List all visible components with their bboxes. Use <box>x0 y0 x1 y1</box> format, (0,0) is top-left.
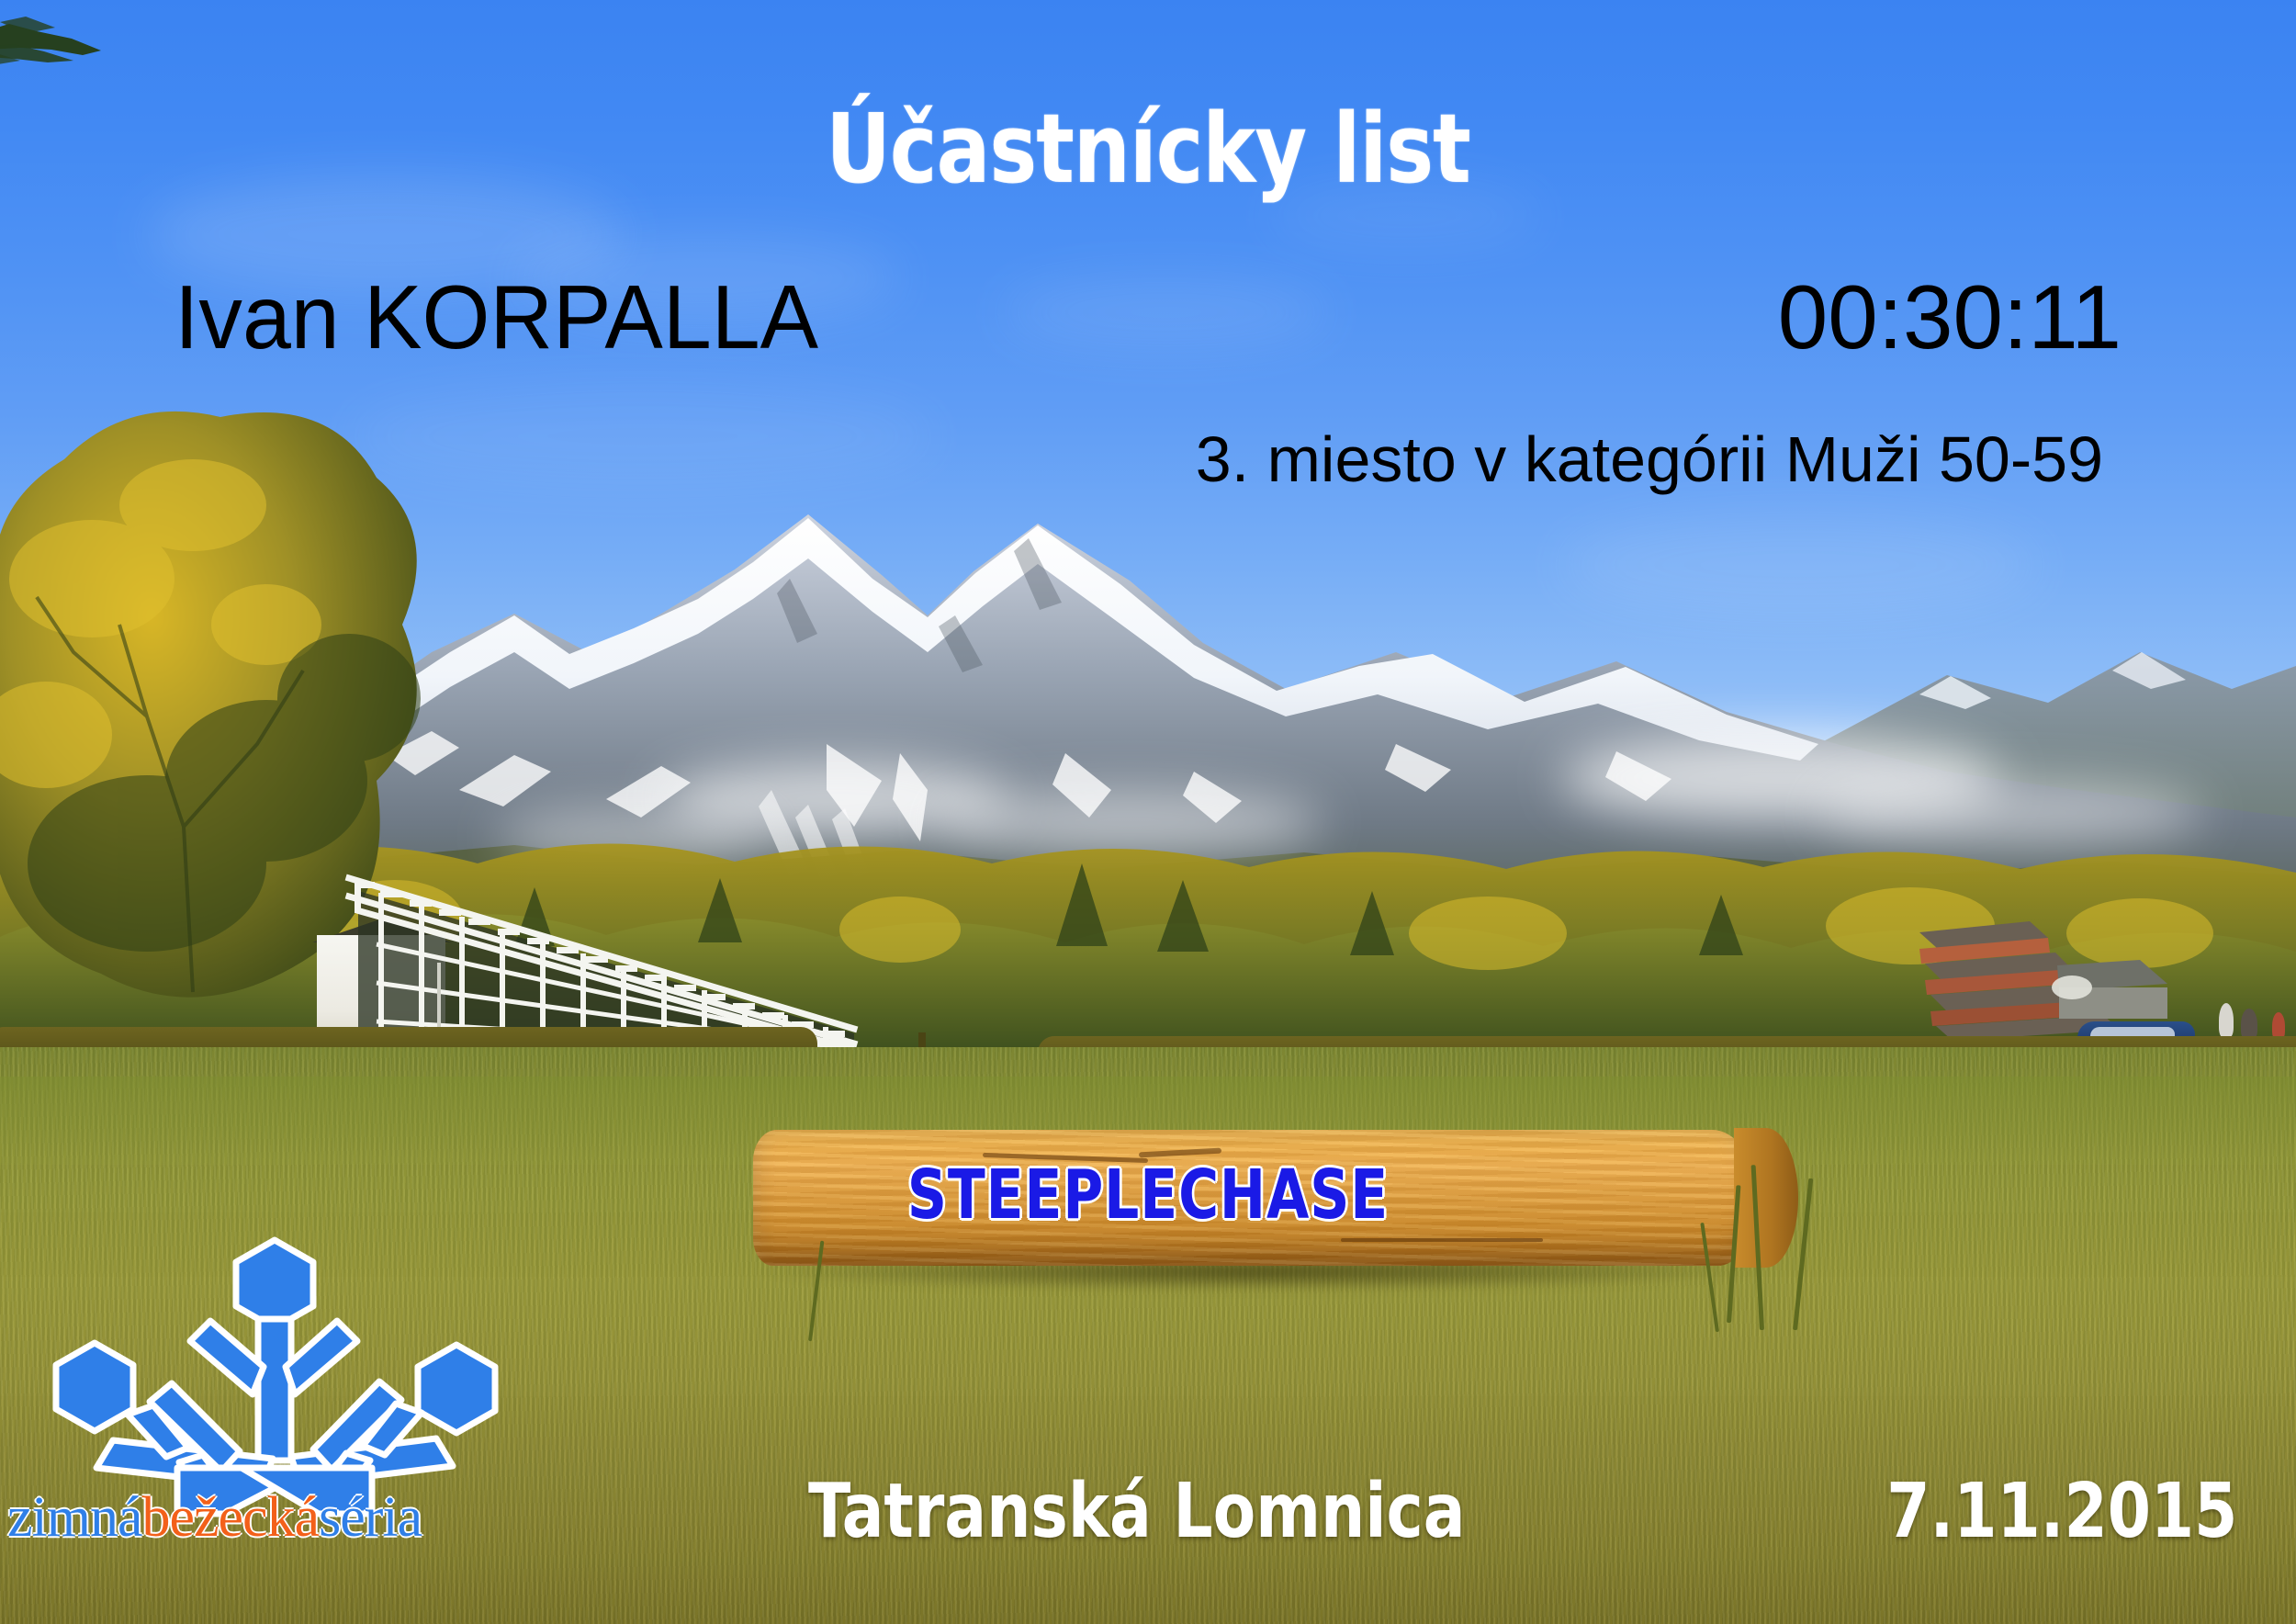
result-row: Ivan KORPALLA 00:30:11 <box>174 272 2122 362</box>
spectator <box>2241 1009 2257 1040</box>
spectator <box>2219 1003 2234 1038</box>
logo-text-bezecka: bežecká <box>142 1486 320 1549</box>
certificate-canvas: Účastnícky list Ivan KORPALLA 00:30:11 3… <box>0 0 2296 1624</box>
logo-text-zimna: zimná <box>7 1486 142 1549</box>
event-venue: Tatranská Lomnica <box>808 1468 1466 1555</box>
logo-text-seria: séria <box>319 1486 422 1549</box>
page-title: Účastnícky list <box>81 99 2216 198</box>
event-date: 7.11.2015 <box>1886 1468 2237 1555</box>
event-name: STEEPLECHASE <box>115 1156 2181 1235</box>
snowflake-icon <box>41 1231 528 1525</box>
grandstand-bleacher <box>303 854 891 1052</box>
log-crack <box>1341 1238 1543 1242</box>
pine-branch-icon <box>0 7 138 85</box>
runner-name: Ivan KORPALLA <box>174 272 818 362</box>
series-logo-text: zimnábežeckáséria <box>7 1485 422 1551</box>
placement-text: 3. miesto v kategórii Muži 50-59 <box>0 423 2103 496</box>
finish-time: 00:30:11 <box>1778 272 2122 362</box>
